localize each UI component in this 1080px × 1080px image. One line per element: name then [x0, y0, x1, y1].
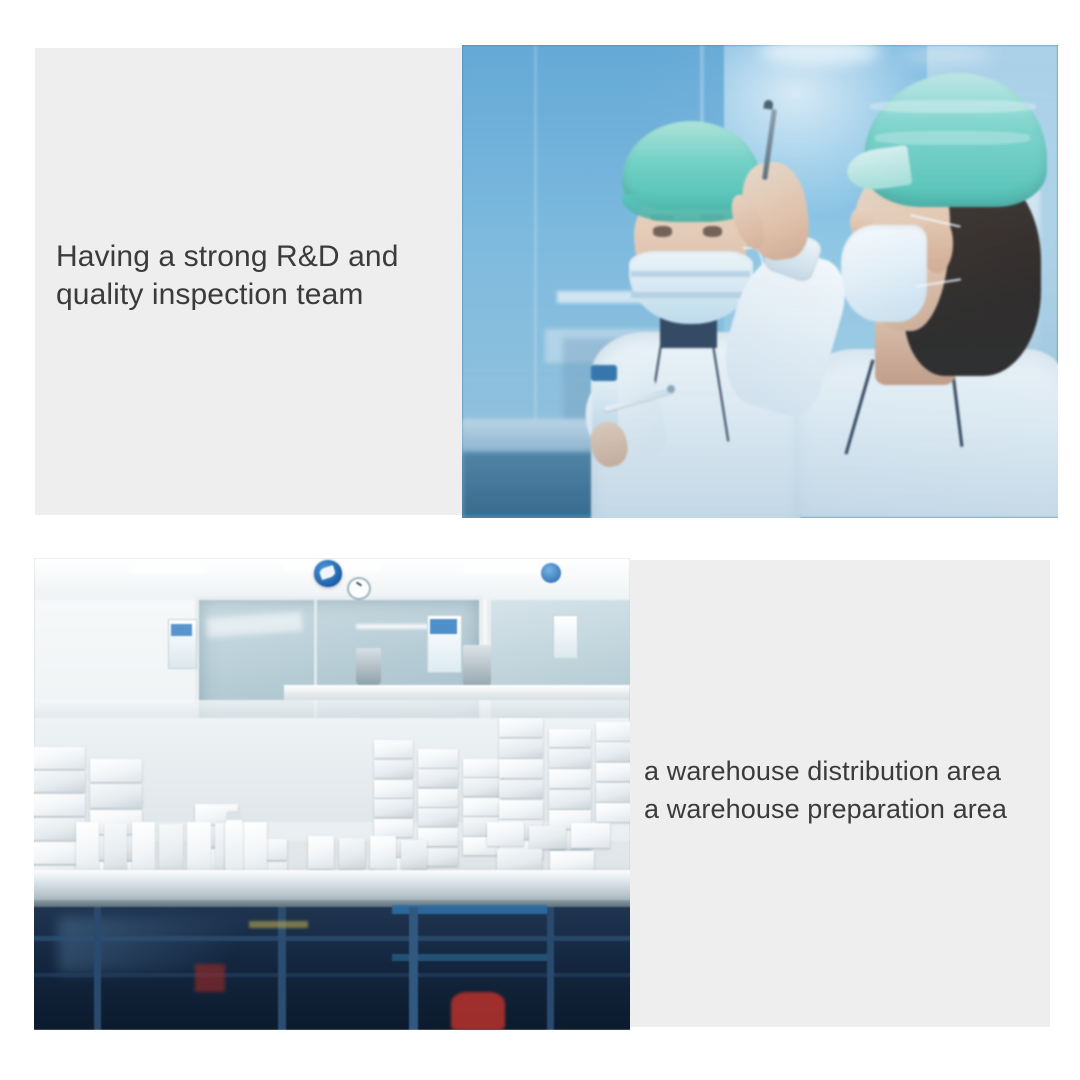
lab-instrument-tip [763, 99, 773, 109]
eye [703, 226, 722, 237]
page-canvas: Having a strong R&D and quality inspecti… [0, 0, 1080, 1080]
warehouse-packing-photo [34, 558, 630, 1030]
carton-row-on-table [308, 827, 427, 869]
table-leg [547, 907, 554, 1030]
table-frame-rail [34, 936, 630, 941]
wall-sign [553, 615, 579, 659]
wall-sign-header [430, 619, 457, 633]
carton-row-on-table [487, 822, 618, 874]
table-leg [94, 907, 101, 1030]
face-mask-pleat [631, 292, 750, 298]
rnd-quality-caption-line-1: Having a strong R&D and [56, 238, 456, 276]
product-bottle-cap [226, 811, 241, 820]
rnd-quality-caption-line-2: quality inspection team [56, 276, 456, 314]
red-floor-accent [451, 992, 505, 1030]
warehouse-caption-line-1: a warehouse distribution area [644, 752, 1044, 790]
lab-technician-profile [784, 73, 1058, 518]
hair-net-fold [875, 131, 1029, 144]
stainless-steel-table-top [34, 870, 630, 903]
table-frame-rail [34, 973, 630, 977]
back-counter [34, 700, 630, 719]
stainless-container [463, 645, 490, 687]
company-logo-badge [541, 563, 561, 583]
face-mask-pleat [631, 271, 750, 277]
lab-photo-content [462, 45, 1058, 518]
red-floor-accent [195, 964, 225, 992]
sample-vial-cap [591, 365, 617, 381]
floor-marking [249, 921, 309, 928]
warehouse-areas-caption: a warehouse distribution area a warehous… [644, 752, 1044, 829]
lab-ceiling-light [903, 47, 993, 63]
ceiling-light [463, 567, 546, 573]
eye [653, 226, 672, 237]
warehouse-photo-content [34, 558, 630, 1030]
back-counter [284, 685, 630, 699]
product-bottle [225, 818, 243, 870]
lab-quality-inspection-photo [462, 45, 1058, 518]
ceiling-light [129, 567, 206, 573]
hair-net-fold [870, 100, 1036, 113]
hair-net-brim [844, 145, 912, 193]
face-mask [841, 225, 927, 323]
table-leg [409, 907, 418, 1030]
rnd-quality-caption: Having a strong R&D and quality inspecti… [56, 238, 456, 315]
stainless-container [356, 648, 381, 686]
wall-sign-header [171, 624, 192, 636]
warehouse-caption-line-2: a warehouse preparation area [644, 790, 1044, 828]
